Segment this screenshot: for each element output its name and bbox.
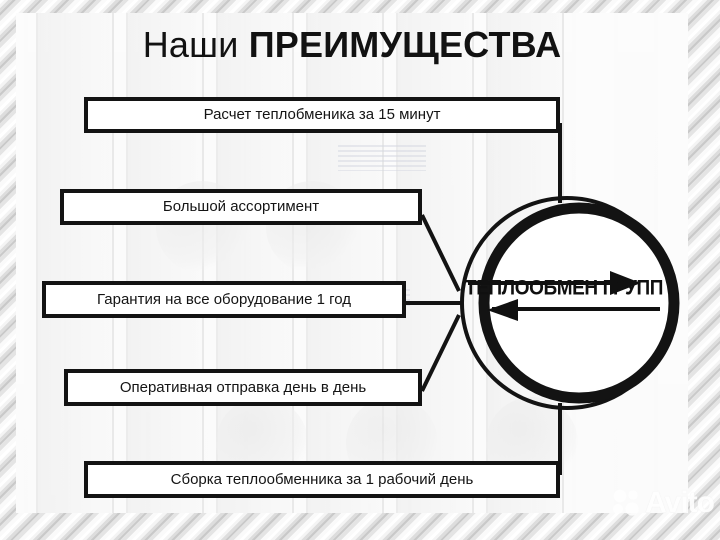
benefit-box-warranty[interactable]: Гарантия на все оборудование 1 год <box>42 281 406 318</box>
benefit-label: Расчет теплобменика за 15 минут <box>204 106 441 124</box>
benefit-box-shipping[interactable]: Оперативная отправка день в день <box>64 369 422 406</box>
arrow-left-icon <box>487 299 660 321</box>
benefit-label: Оперативная отправка день в день <box>120 379 366 397</box>
avito-wordmark: Avito <box>645 488 714 518</box>
benefit-label: Большой ассортимент <box>163 198 319 216</box>
avito-watermark: Avito <box>611 488 714 518</box>
benefit-box-calc-time[interactable]: Расчет теплобменика за 15 минут <box>84 97 560 133</box>
benefit-box-assortment[interactable]: Большой ассортимент <box>60 189 422 225</box>
benefit-box-assembly[interactable]: Сборка теплообменника за 1 рабочий день <box>84 461 560 498</box>
logo-text: ТЕПЛООБМЕН ГРУПП <box>460 277 668 302</box>
connector-assortment <box>422 215 459 291</box>
content-panel: Наши ПРЕИМУЩЕСТВА Расчет теплобменика за… <box>16 13 688 513</box>
connector-shipping <box>422 315 459 391</box>
company-logo[interactable]: ТЕПЛООБМЕН ГРУПП <box>460 265 668 327</box>
poster-canvas: Наши ПРЕИМУЩЕСТВА Расчет теплобменика за… <box>0 0 720 540</box>
avito-dots-icon <box>611 488 641 518</box>
diagram-connectors <box>16 13 688 513</box>
benefit-label: Гарантия на все оборудование 1 год <box>97 291 351 309</box>
benefit-label: Сборка теплообменника за 1 рабочий день <box>171 471 474 489</box>
